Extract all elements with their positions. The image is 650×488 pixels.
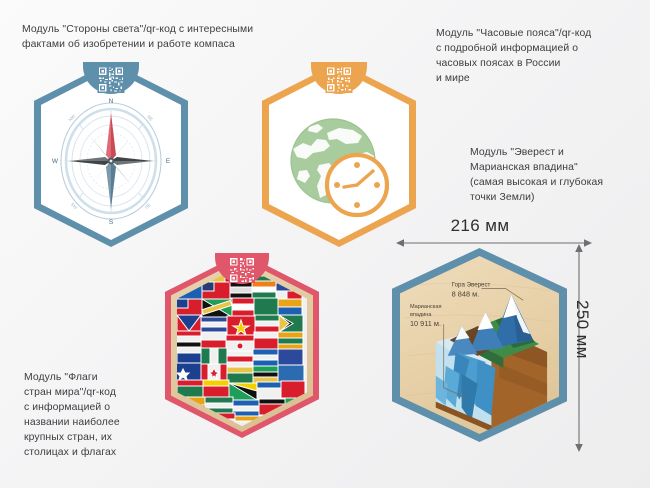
compass-label-e: E xyxy=(166,158,171,165)
dimension-label-width: 216 мм xyxy=(420,216,540,236)
terrain-cross-section-icon: Гора Эверест 8 848 м. Марианская впадина… xyxy=(400,256,559,434)
module-flags[interactable] xyxy=(165,253,319,438)
module-timezone[interactable] xyxy=(262,62,416,247)
label-trench-name-1: Марианская xyxy=(410,304,442,310)
compass-label-sw: SW xyxy=(70,202,79,211)
hexagon-face-flags xyxy=(177,265,307,426)
compass-label-n: N xyxy=(109,98,114,105)
qr-code-icon[interactable] xyxy=(229,257,255,283)
dimension-label-height: 250 мм xyxy=(572,300,592,359)
qr-code-icon[interactable] xyxy=(326,66,353,93)
hexagon-face-timezone xyxy=(269,69,409,240)
compass-label-w: W xyxy=(52,158,59,165)
caption-compass-module: Модуль "Стороны света"/qr-код с интересн… xyxy=(22,22,332,52)
label-everest-value: 8 848 м. xyxy=(452,289,480,298)
qr-code-icon[interactable] xyxy=(98,66,125,93)
hexagon-face-everest: Гора Эверест 8 848 м. Марианская впадина… xyxy=(400,256,559,434)
world-flags-icon xyxy=(177,265,307,426)
compass-label-s: S xyxy=(109,219,114,226)
compass-rose-icon: N S E W NW NE SW SE xyxy=(41,69,181,240)
caption-flags-module: Модуль "Флаги стран мира"/qr-код с инфор… xyxy=(24,370,184,460)
module-compass[interactable]: N S E W NW NE SW SE xyxy=(34,62,188,247)
caption-everest-module: Модуль "Эверест и Марианская впадина" (с… xyxy=(470,145,650,205)
module-everest[interactable]: Гора Эверест 8 848 м. Марианская впадина… xyxy=(392,248,567,442)
dimension-arrow-width xyxy=(396,236,592,250)
globe-clock-icon xyxy=(269,69,409,240)
label-trench-value: 10 911 м. xyxy=(410,319,441,328)
infographic-canvas: Модуль "Стороны света"/qr-код с интересн… xyxy=(0,0,650,488)
label-trench-name-2: впадина xyxy=(410,312,432,318)
hexagon-face-compass: N S E W NW NE SW SE xyxy=(41,69,181,240)
label-everest-name: Гора Эверест xyxy=(452,281,491,288)
caption-timezone-module: Модуль "Часовые пояса"/qr-код с подробно… xyxy=(436,26,641,86)
